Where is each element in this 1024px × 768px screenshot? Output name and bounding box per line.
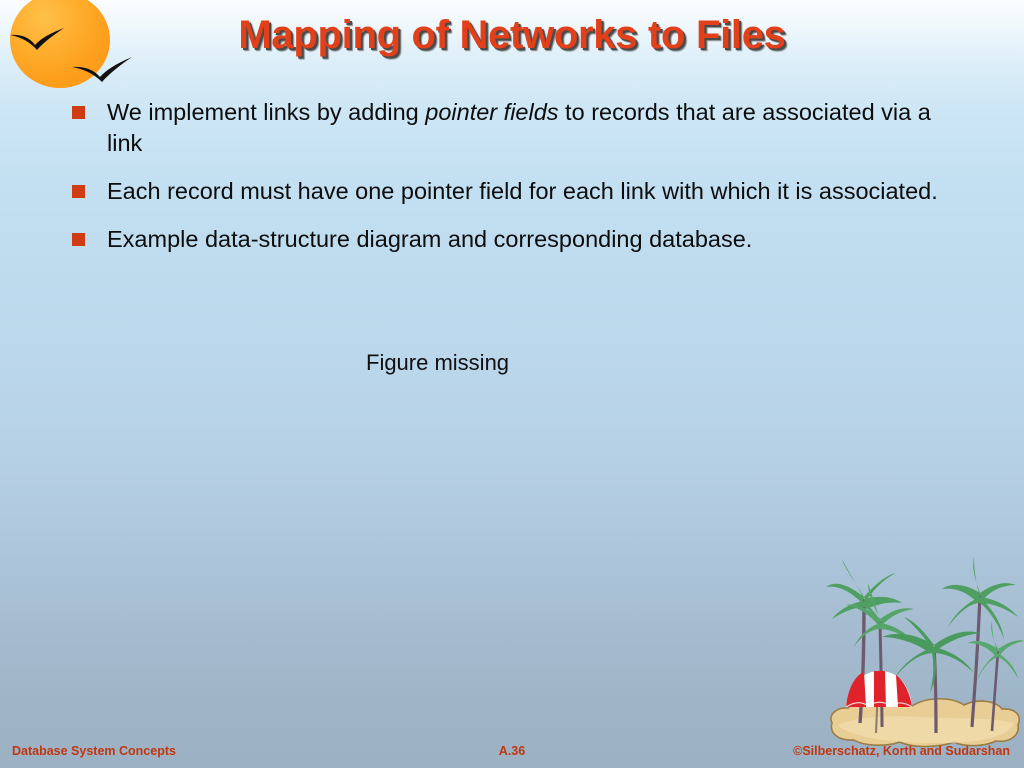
palm-tree-beach-icon bbox=[824, 555, 1024, 750]
slide-title: Mapping of Networks to Files bbox=[0, 13, 1024, 58]
bullet-text-pre: Each record must have one pointer field … bbox=[107, 178, 938, 204]
bullet-square-icon bbox=[72, 106, 85, 119]
presentation-slide: Mapping of Networks to Files We implemen… bbox=[0, 0, 1024, 768]
figure-placeholder-text: Figure missing bbox=[366, 350, 509, 376]
bullet-text-pre: We implement links by adding bbox=[107, 99, 425, 125]
bullet-text: Example data-structure diagram and corre… bbox=[107, 224, 962, 255]
beach-umbrella-icon bbox=[846, 671, 912, 733]
bullet-text: Each record must have one pointer field … bbox=[107, 176, 962, 207]
slide-footer: Database System Concepts A.36 ©Silbersch… bbox=[0, 734, 1024, 768]
bird-icon bbox=[70, 55, 136, 83]
bullet-item: We implement links by adding pointer fie… bbox=[72, 97, 962, 159]
bullet-text-italic: pointer fields bbox=[425, 99, 558, 125]
footer-copyright: ©Silberschatz, Korth and Sudarshan bbox=[793, 744, 1010, 758]
bullet-square-icon bbox=[72, 185, 85, 198]
bullet-text: We implement links by adding pointer fie… bbox=[107, 97, 962, 159]
slide-body-content: We implement links by adding pointer fie… bbox=[72, 97, 962, 272]
bullet-text-pre: Example data-structure diagram and corre… bbox=[107, 226, 752, 252]
bullet-item: Each record must have one pointer field … bbox=[72, 176, 962, 207]
bullet-item: Example data-structure diagram and corre… bbox=[72, 224, 962, 255]
bullet-square-icon bbox=[72, 233, 85, 246]
